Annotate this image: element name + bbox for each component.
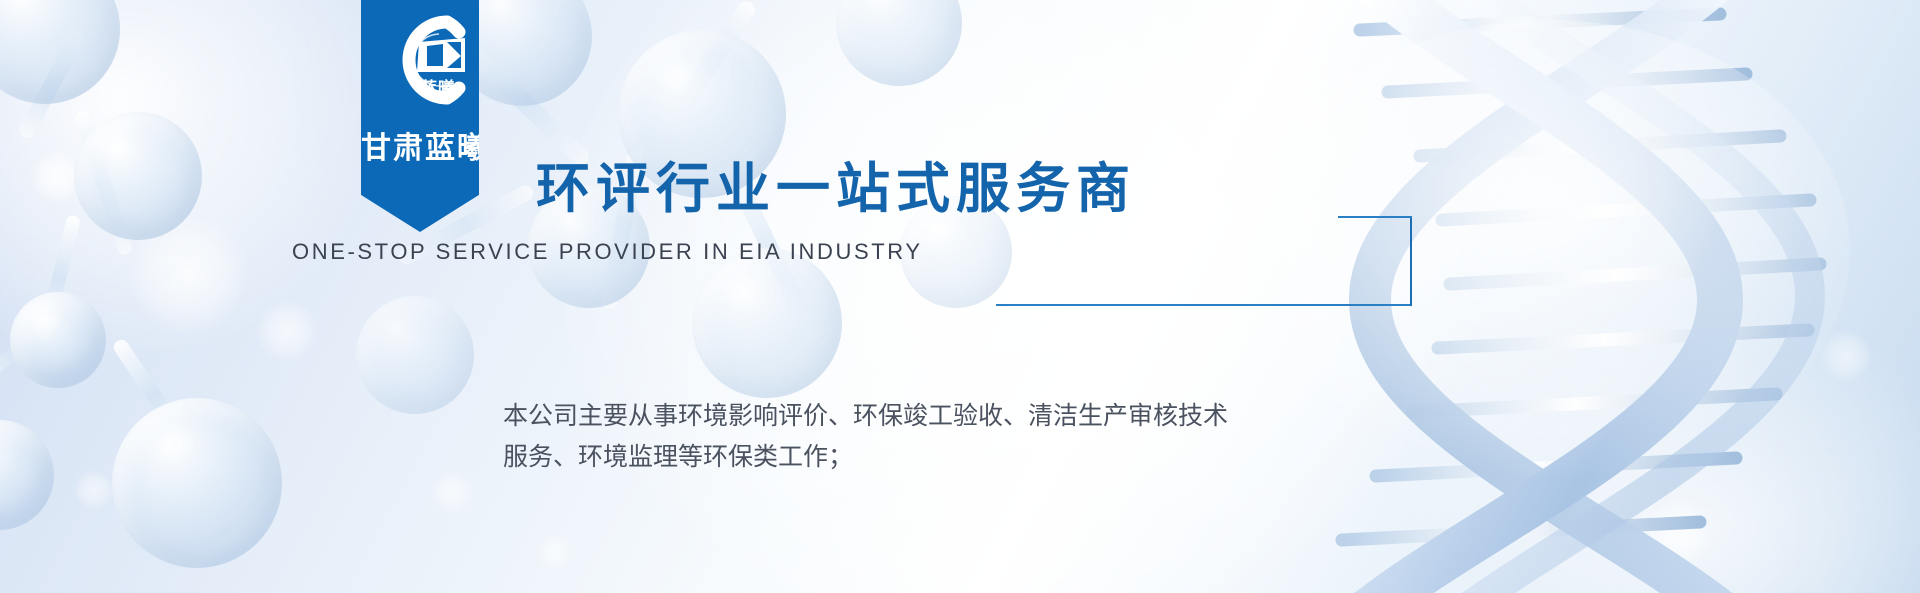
bokeh-dot [128,214,248,334]
headline-subtitle: ONE-STOP SERVICE PROVIDER IN EIA INDUSTR… [292,239,923,265]
glow-top-left [0,0,380,360]
bokeh-dot [430,470,474,514]
bokeh-dot [74,470,114,510]
bokeh-dot [1642,500,1712,570]
description-line-1: 本公司主要从事环境影响评价、环保竣工验收、清洁生产审核技术 [503,395,1303,436]
bokeh-dot [30,150,84,204]
dna-helix-graphic [1120,0,1920,593]
connector-line-lower [996,304,1412,306]
connector-line-vertical [1410,216,1412,306]
description-paragraph: 本公司主要从事环境影响评价、环保竣工验收、清洁生产审核技术 服务、环境监理等环保… [503,395,1303,477]
bokeh-dot [1820,330,1872,382]
logo-mark-text: 蓝曦 [379,74,497,99]
badge-company-name: 甘肃蓝曦 [361,123,479,167]
company-badge: 蓝曦 甘肃蓝曦 [361,0,479,232]
bokeh-dot [1290,92,1336,138]
bokeh-dot [256,300,318,362]
hero-banner: 蓝曦 甘肃蓝曦 环评行业一站式服务商 ONE-STOP SERVICE PROV… [0,0,1920,593]
headline-title: 环评行业一站式服务商 [536,144,1136,223]
bokeh-dot [536,534,572,570]
glow-bottom-right [1380,300,1920,593]
connector-line-upper [1338,216,1412,218]
lanxi-circle-logo-icon: 蓝曦 [361,8,479,112]
glow-center [560,0,1460,593]
description-line-2: 服务、环境监理等环保类工作； [503,436,1303,477]
